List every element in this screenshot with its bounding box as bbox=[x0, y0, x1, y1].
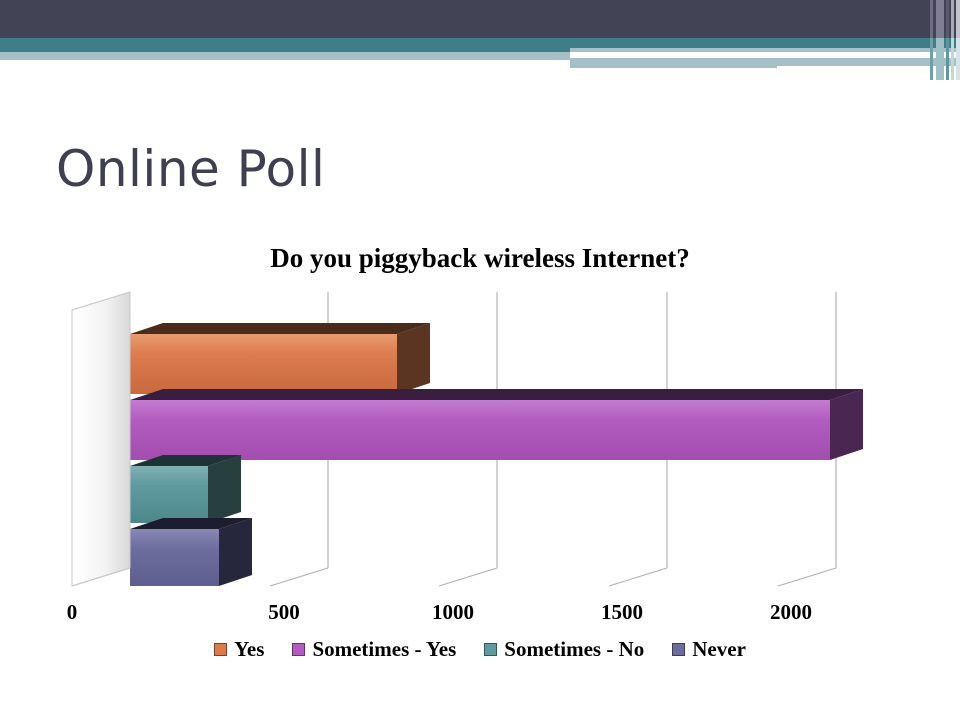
poll-chart: Do you piggyback wireless Internet? bbox=[60, 235, 900, 685]
x-tick-0: 0 bbox=[67, 600, 78, 625]
chart-svg bbox=[60, 290, 900, 590]
x-tick-500: 500 bbox=[268, 600, 300, 625]
slide-canvas: Online Poll Do you piggyback wireless In… bbox=[0, 0, 960, 720]
legend-swatch-never bbox=[672, 643, 685, 656]
legend-item-never[interactable]: Never bbox=[672, 637, 746, 662]
banner-band-navy bbox=[0, 0, 960, 38]
chart-x-axis: 0 500 1000 1500 2000 bbox=[60, 600, 900, 630]
chart-left-wall bbox=[72, 292, 130, 586]
bar-sometimes-yes bbox=[130, 389, 863, 460]
legend-swatch-sometimes-no bbox=[484, 643, 497, 656]
bar-never bbox=[130, 518, 252, 586]
banner-band-light-right bbox=[570, 48, 960, 52]
bar-sometimes-no bbox=[130, 455, 241, 523]
banner-band-light-left bbox=[0, 52, 570, 60]
legend-item-yes[interactable]: Yes bbox=[214, 637, 264, 662]
x-tick-1000: 1000 bbox=[432, 600, 474, 625]
legend-item-sometimes-yes[interactable]: Sometimes - Yes bbox=[292, 637, 456, 662]
legend-label-never: Never bbox=[692, 637, 746, 662]
legend-item-sometimes-no[interactable]: Sometimes - No bbox=[484, 637, 644, 662]
legend-label-yes: Yes bbox=[234, 637, 264, 662]
banner-vertical-stripe-teal-5 bbox=[956, 38, 960, 80]
x-tick-2000: 2000 bbox=[770, 600, 812, 625]
banner-vertical-stripe-teal-3 bbox=[946, 38, 949, 80]
banner-vertical-stripe-teal-2 bbox=[936, 38, 944, 80]
legend-swatch-yes bbox=[214, 643, 227, 656]
banner-vertical-stripe-teal-1 bbox=[930, 38, 933, 80]
legend-swatch-sometimes-yes bbox=[292, 643, 305, 656]
chart-plot-area bbox=[60, 290, 900, 590]
x-tick-1500: 1500 bbox=[601, 600, 643, 625]
chart-title: Do you piggyback wireless Internet? bbox=[60, 243, 900, 274]
legend-label-sometimes-yes: Sometimes - Yes bbox=[312, 637, 456, 662]
chart-legend: Yes Sometimes - Yes Sometimes - No Never bbox=[60, 637, 900, 662]
bar-yes bbox=[130, 323, 430, 394]
page-title: Online Poll bbox=[56, 142, 325, 197]
legend-label-sometimes-no: Sometimes - No bbox=[504, 637, 644, 662]
banner-vertical-stripe-teal-4 bbox=[951, 38, 954, 80]
slide-header-banner bbox=[0, 0, 960, 80]
